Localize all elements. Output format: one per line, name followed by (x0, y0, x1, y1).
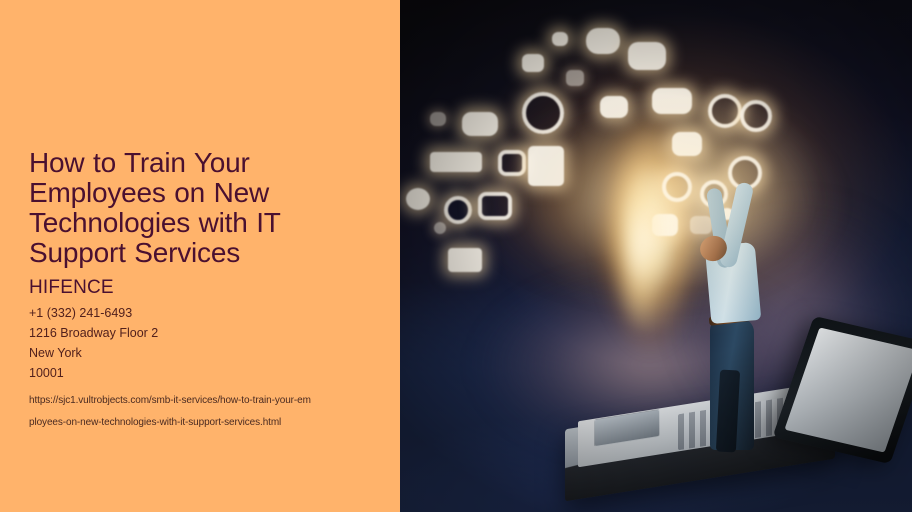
article-cover-poster: How to Train Your Employees on New Techn… (0, 0, 912, 512)
icon-tile-3 (586, 28, 620, 54)
cover-image (400, 0, 912, 512)
icon-dot-2 (434, 222, 446, 234)
icon-tile-13 (600, 96, 628, 118)
article-url-line-2: ployees-on-new-technologies-with-it-supp… (29, 412, 369, 434)
icon-tile-5 (652, 88, 692, 114)
contact-street: 1216 Broadway Floor 2 (29, 323, 374, 343)
icon-dot-1 (406, 188, 430, 210)
contact-list: +1 (332) 241-6493 1216 Broadway Floor 2 … (29, 303, 374, 383)
icon-tile-7 (430, 112, 446, 126)
article-url-line-1: https://sjc1.vultrobjects.com/smb-it-ser… (29, 390, 369, 412)
icon-ring-3 (444, 196, 472, 224)
icon-ring-4 (478, 192, 512, 220)
person-leg-back (716, 370, 740, 453)
icon-tile-14 (566, 70, 584, 86)
icon-ring-2 (498, 150, 526, 176)
laptop-screen-display (784, 327, 912, 452)
contact-phone: +1 (332) 241-6493 (29, 303, 374, 323)
text-content-block: How to Train Your Employees on New Techn… (29, 148, 374, 434)
text-panel: How to Train Your Employees on New Techn… (0, 0, 400, 512)
icon-keyboard-tile (430, 152, 482, 172)
brand-name: HIFENCE (29, 276, 374, 300)
icon-ring-6 (740, 100, 772, 132)
icon-tile-2 (552, 32, 568, 46)
icon-tile-1 (522, 54, 544, 72)
page-title: How to Train Your Employees on New Techn… (29, 148, 374, 268)
contact-zip: 10001 (29, 363, 374, 383)
person-figure (688, 200, 798, 470)
icon-tile-6 (462, 112, 498, 136)
contact-city: New York (29, 343, 374, 363)
icon-tile-4 (628, 42, 666, 70)
icon-tile-9 (448, 248, 482, 272)
article-url[interactable]: https://sjc1.vultrobjects.com/smb-it-ser… (29, 390, 369, 434)
